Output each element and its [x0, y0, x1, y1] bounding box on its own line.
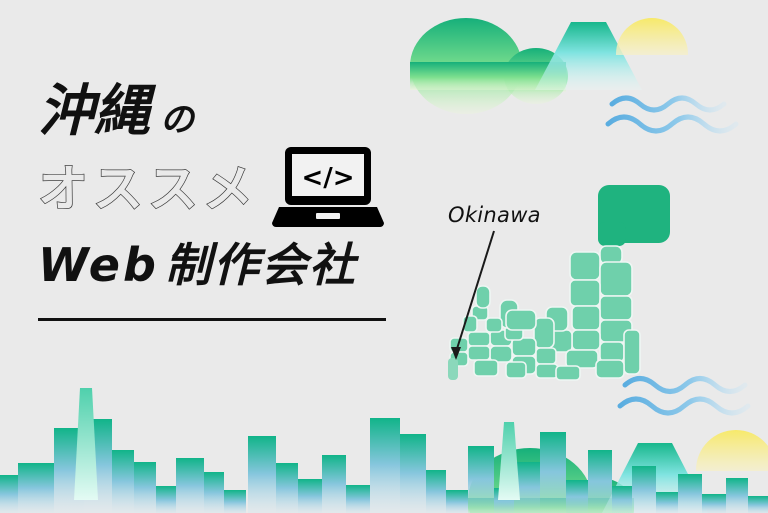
mountain-bottom — [602, 443, 708, 513]
headline-line-3: Web制作会社 — [38, 228, 398, 288]
headline-osusume-katakana: オススメ — [38, 164, 258, 214]
wave-group-bottom — [620, 379, 748, 414]
headline-block: 沖縄 の オススメ Web制作会社 — [38, 78, 398, 288]
hill-group-bottom — [468, 448, 634, 513]
mountain-top — [535, 22, 642, 90]
headline-line-2: オススメ — [38, 152, 398, 214]
okinawa-pointer-arrow — [451, 231, 494, 360]
headline-line-1: 沖縄 の — [38, 78, 398, 140]
hokkaido-block — [598, 185, 670, 246]
okinawa-annotation-label: Okinawa — [448, 203, 541, 227]
cityscape — [0, 388, 768, 513]
headline-seisaku-gaisha: 制作会社 — [165, 238, 357, 292]
headline-okinawa-kanji: 沖縄 — [38, 84, 150, 140]
wave-group-top — [608, 98, 736, 131]
honshu-blocks — [450, 246, 640, 380]
sun-bottom — [696, 416, 768, 513]
hill-group-top — [410, 18, 568, 114]
sun-top — [616, 18, 688, 55]
okinawa-island-marker — [448, 358, 458, 380]
headline-particle-no: の — [160, 103, 194, 137]
banner-canvas: Okinawa </> 沖縄 の オススメ Web制作会社 — [0, 0, 768, 513]
headline-web-word: Web — [38, 238, 159, 292]
headline-underline-rule — [38, 318, 386, 321]
